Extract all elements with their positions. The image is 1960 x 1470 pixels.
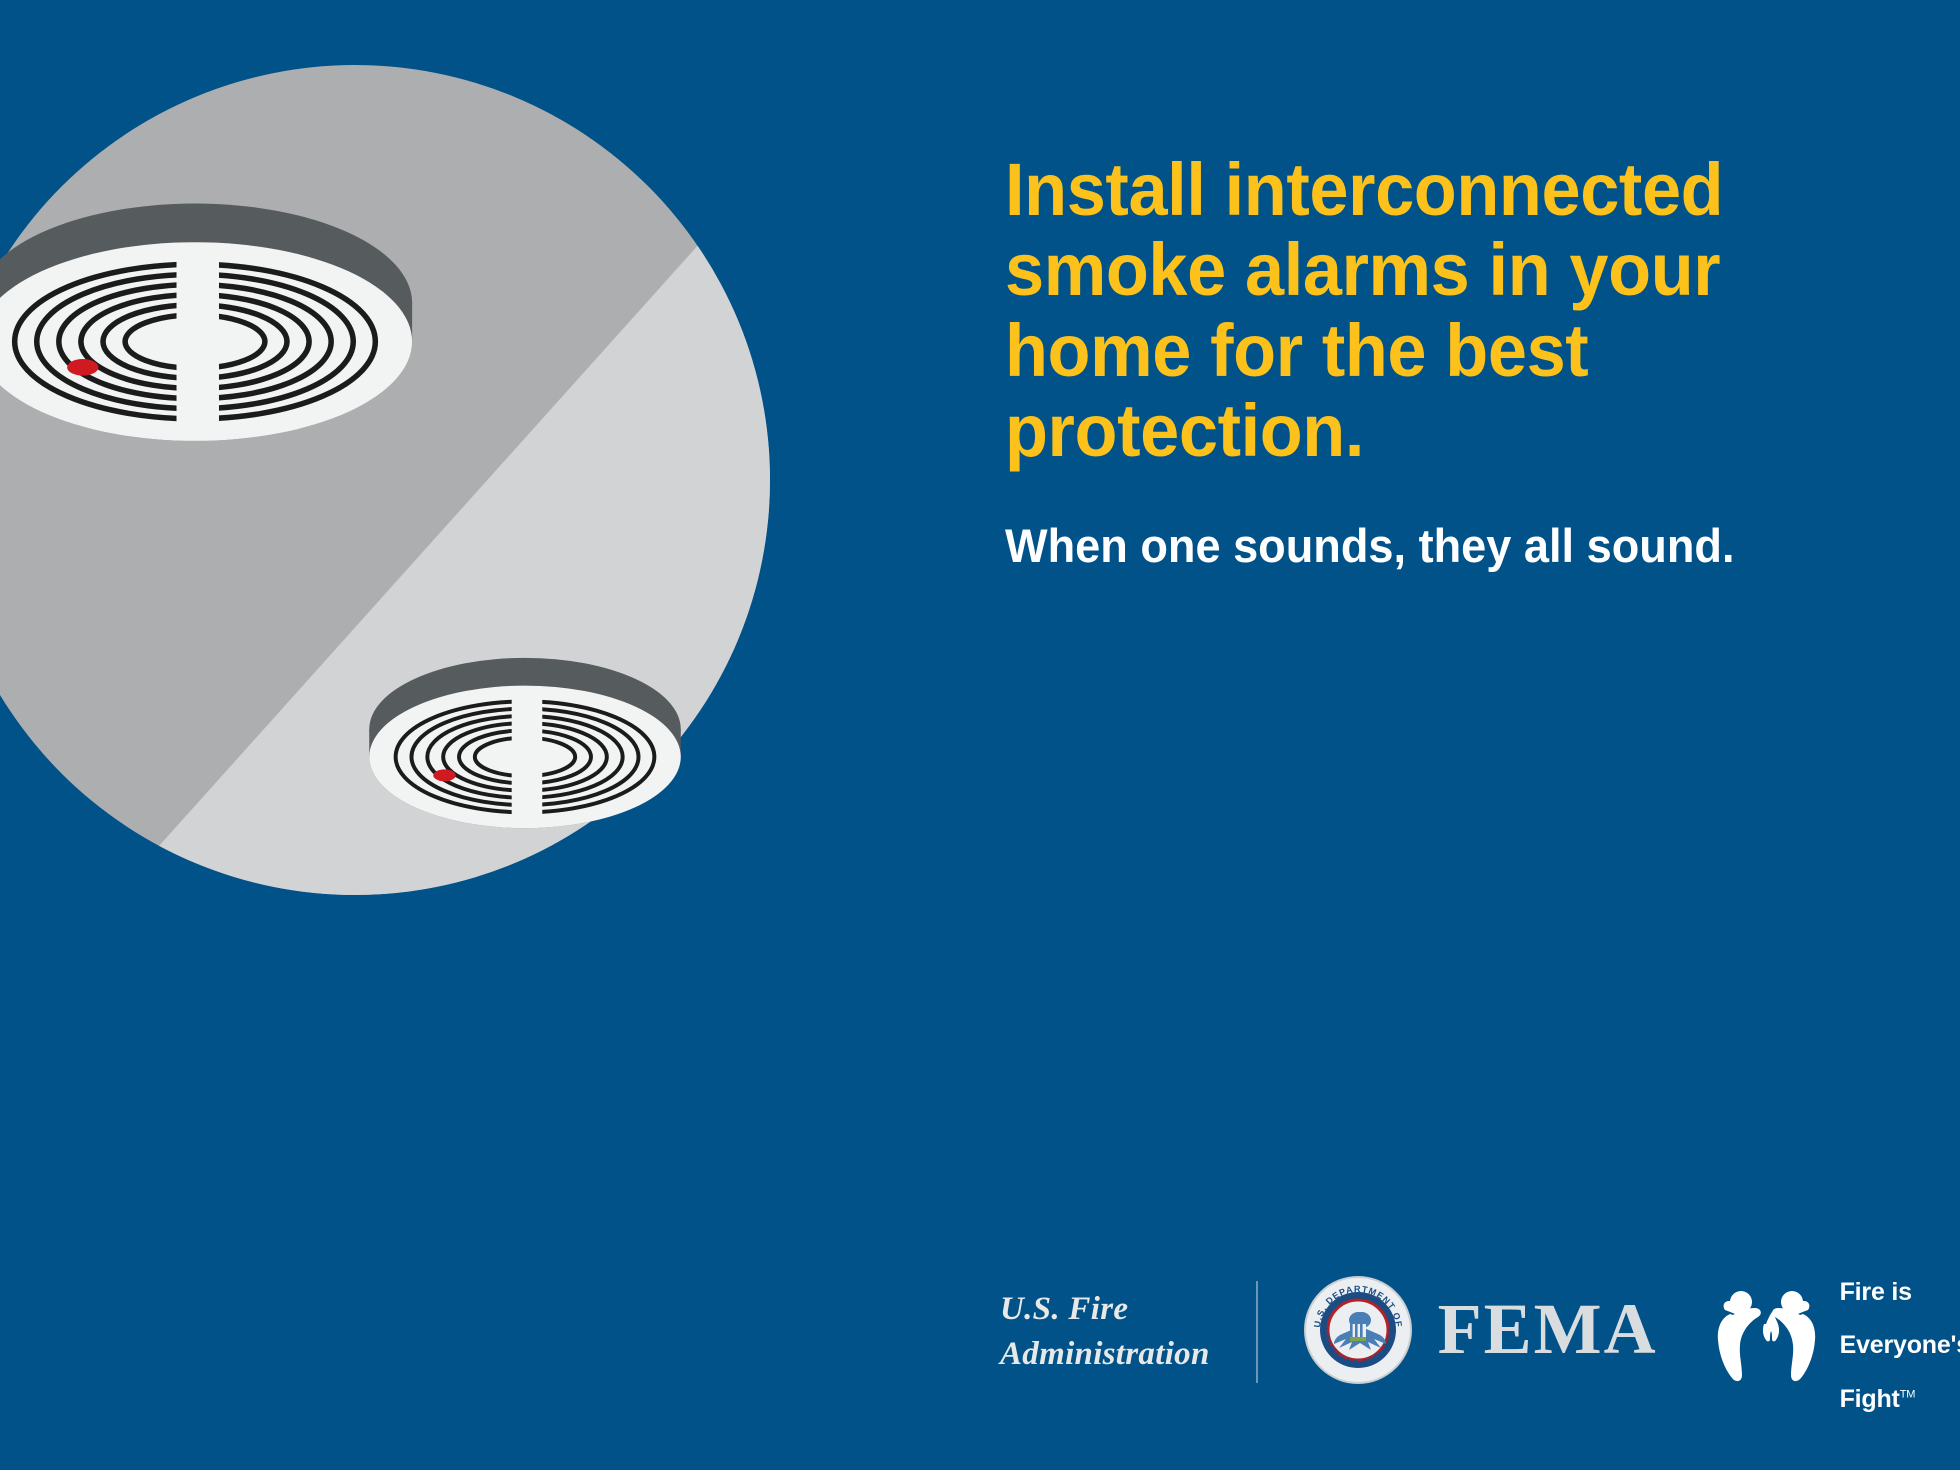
dhs-seal: U.S. DEPARTMENT OF HOMELAND SECURITY [1304,1276,1412,1389]
fief-trademark: TM [1900,1388,1915,1400]
fief-line1: Fire is [1840,1278,1912,1306]
fire-is-everyones-fight-logo: Fire is Everyone's FightTM [1716,1252,1960,1413]
upper-smoke-alarm [0,204,412,441]
footer-divider [1256,1281,1258,1383]
fire-is-everyones-fight-text: Fire is Everyone's FightTM [1840,1252,1960,1413]
usfa-wordmark: U.S. Fire Administration [1000,1287,1256,1377]
headline: Install interconnected smoke alarms in y… [1005,150,1841,471]
subhead: When one sounds, they all sound. [1005,519,1850,574]
footer-logo-bar: U.S. Fire Administration [1000,1272,1960,1392]
message-column: Install interconnected smoke alarms in y… [1005,150,1885,574]
fema-wordmark: FEMA [1438,1293,1658,1371]
two-figures-flame-icon [1716,1280,1828,1384]
lower-smoke-alarm [369,658,681,828]
fief-line3: Fight [1840,1385,1900,1413]
smoke-alarm-illustration [0,65,770,895]
fief-line2: Everyone's [1840,1331,1960,1359]
